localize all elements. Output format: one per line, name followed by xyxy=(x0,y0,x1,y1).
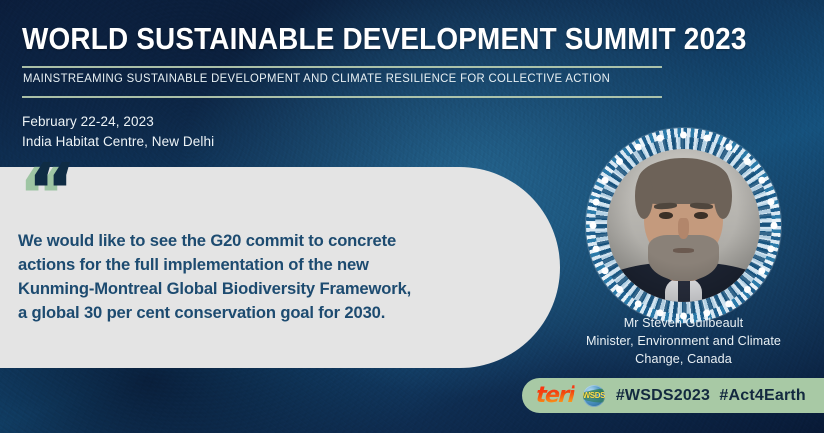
header-block: WORLD SUSTAINABLE DEVELOPMENT SUMMIT 202… xyxy=(22,22,662,152)
quote-line: a global 30 per cent conservation goal f… xyxy=(18,301,498,325)
event-venue: India Habitat Centre, New Delhi xyxy=(22,132,662,152)
event-dates: February 22-24, 2023 xyxy=(22,112,662,132)
event-subtitle: MAINSTREAMING SUSTAINABLE DEVELOPMENT AN… xyxy=(22,68,652,89)
quotation-mark-icon: “ “ xyxy=(18,175,88,223)
quotation-mark-main: “ xyxy=(27,153,75,229)
wsds-globe-label: WSDS xyxy=(583,385,605,407)
speaker-title-line-2: Change, Canada xyxy=(546,351,821,368)
quote-line: actions for the full implementation of t… xyxy=(18,253,498,277)
portrait-frame-dot xyxy=(767,199,774,206)
speaker-caption: Mr Steven Guilbeault Minister, Environme… xyxy=(546,315,821,368)
photo-vignette xyxy=(607,149,760,302)
portrait-frame-dot xyxy=(680,132,687,139)
quote-line: Kunming-Montreal Global Biodiversity Fra… xyxy=(18,277,498,301)
header-rule-bottom xyxy=(22,96,662,98)
portrait-frame-dot xyxy=(703,135,710,142)
quote-text: We would like to see the G20 commit to c… xyxy=(18,229,498,325)
hashtags: #WSDS2023 #Act4Earth xyxy=(616,387,806,405)
footer-branding-bar: teri WSDS #WSDS2023 #Act4Earth xyxy=(522,378,824,413)
speaker-name: Mr Steven Guilbeault xyxy=(546,315,821,332)
portrait-frame-dot xyxy=(593,199,600,206)
teri-logo: teri xyxy=(535,385,574,407)
portrait-frame-dot xyxy=(771,222,778,229)
avatar xyxy=(607,149,760,302)
portrait-frame-dot xyxy=(767,245,774,252)
portrait-frame-dot xyxy=(657,135,664,142)
speaker-title-line-1: Minister, Environment and Climate xyxy=(546,333,821,350)
portrait-frame-dot xyxy=(590,222,597,229)
speaker-portrait xyxy=(586,128,781,323)
portrait-frame-dot xyxy=(593,245,600,252)
quote-panel: “ “ We would like to see the G20 commit … xyxy=(0,167,560,368)
summit-quote-card: WORLD SUSTAINABLE DEVELOPMENT SUMMIT 202… xyxy=(0,0,824,433)
quote-line: We would like to see the G20 commit to c… xyxy=(18,229,498,253)
wsds-globe-icon: WSDS xyxy=(583,385,605,407)
event-title: WORLD SUSTAINABLE DEVELOPMENT SUMMIT 202… xyxy=(22,22,598,55)
event-meta: February 22-24, 2023 India Habitat Centr… xyxy=(22,112,662,151)
